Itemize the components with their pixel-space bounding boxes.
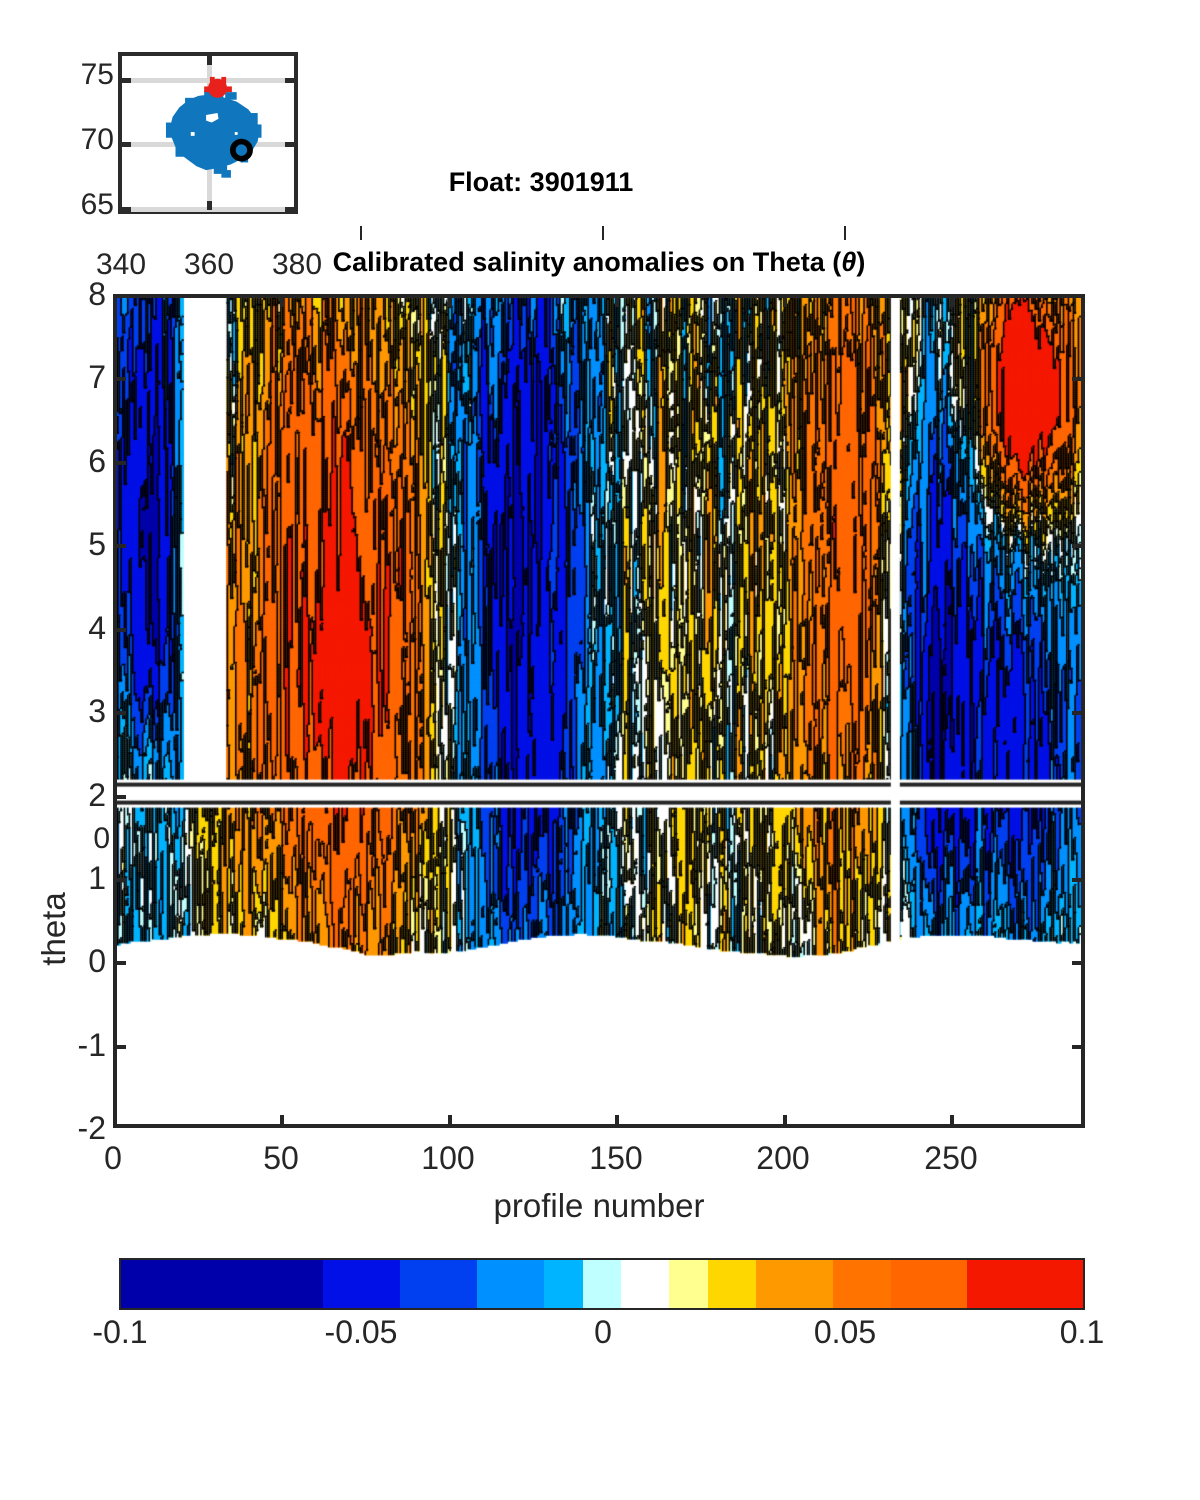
colorbar-band-5 (583, 1260, 621, 1308)
ytick-label-neg1: -1 (46, 1027, 106, 1064)
ytick-mark-neg1-right (1072, 1045, 1085, 1049)
ytick-mark-1 (113, 878, 126, 882)
xtick-mark-50 (280, 1115, 284, 1128)
colorbar-band-6 (621, 1260, 669, 1308)
xtick-mark-250 (950, 1115, 954, 1128)
ytick-mark-0-right (1072, 961, 1085, 965)
xtick-label-150: 150 (571, 1140, 661, 1177)
colorbar-tick-0 (602, 226, 604, 240)
ytick-mark-3 (113, 711, 126, 715)
ytick-mark-neg1 (113, 1045, 126, 1049)
ytick-label-4: 4 (46, 610, 106, 647)
colorbar-band-3 (477, 1260, 544, 1308)
colorbar-band-7 (669, 1260, 707, 1308)
title-theta-symbol: θ (841, 247, 856, 277)
xtick-mark-0-top (113, 294, 117, 307)
ytick-mark-0 (113, 961, 126, 965)
xtick-label-250: 250 (906, 1140, 996, 1177)
xtick-mark-100 (448, 1115, 452, 1128)
salinity-anomaly-plot[interactable] (113, 294, 1085, 1128)
colorbar-label-neg005: -0.05 (301, 1314, 421, 1351)
colorbar-band-9 (756, 1260, 833, 1308)
colorbar-band-12 (967, 1260, 1082, 1308)
colorbar-band-0 (121, 1260, 323, 1308)
page-title: Calibrated salinity anomalies on Theta (… (113, 247, 1085, 278)
title-suffix: ) (856, 247, 865, 277)
xtick-mark-200-top (783, 294, 787, 307)
ytick-label-6: 6 (46, 443, 106, 480)
colorbar-label-0: 0 (543, 1314, 663, 1351)
xtick-mark-100-top (448, 294, 452, 307)
xtick-mark-200 (783, 1115, 787, 1128)
xtick-mark-150 (615, 1115, 619, 1128)
colorbar-band-11 (891, 1260, 968, 1308)
colorbar-band-1 (323, 1260, 400, 1308)
xtick-mark-250-top (950, 294, 954, 307)
ytick-mark-5-right (1072, 544, 1085, 548)
y-axis-label: theta (35, 849, 73, 1009)
ytick-label-7: 7 (46, 359, 106, 396)
ytick-label-5: 5 (46, 526, 106, 563)
ytick-mark-7 (113, 377, 126, 381)
ytick-mark-6 (113, 461, 126, 465)
xtick-label-200: 200 (738, 1140, 828, 1177)
xtick-label-50: 50 (236, 1140, 326, 1177)
colorbar-band-4 (544, 1260, 582, 1308)
map-ylabel-75: 75 (58, 58, 114, 92)
xtick-label-0: 0 (68, 1140, 158, 1177)
colorbar-band-8 (708, 1260, 756, 1308)
ytick-label-2: 2 (46, 777, 106, 814)
salinity-anomaly-colorbar[interactable] (119, 1258, 1085, 1310)
ytick-mark-3-right (1072, 711, 1085, 715)
colorbar-band-2 (400, 1260, 477, 1308)
trajectory-cluster-icon (166, 90, 262, 177)
colorbar-tick-005 (844, 226, 846, 240)
colorbar-tick-neg005 (360, 226, 362, 240)
colorbar-label-neg01: -0.1 (60, 1314, 180, 1351)
title-prefix: Calibrated salinity anomalies on Theta ( (333, 247, 842, 277)
colorbar-label-005: 0.05 (785, 1314, 905, 1351)
ytick-mark-4 (113, 628, 126, 632)
ytick-mark-2 (113, 795, 126, 799)
xtick-label-100: 100 (403, 1140, 493, 1177)
ytick-label-8: 8 (46, 276, 106, 313)
ytick-mark-5 (113, 544, 126, 548)
map-ylabel-70: 70 (58, 123, 114, 157)
contour-field (117, 298, 1081, 1124)
xtick-mark-150-top (615, 294, 619, 307)
ytick-mark-7-right (1072, 377, 1085, 381)
colorbar-band-10 (833, 1260, 891, 1308)
xtick-mark-50-top (280, 294, 284, 307)
x-axis-label: profile number (113, 1187, 1085, 1225)
ytick-mark-1-right (1072, 878, 1085, 882)
figure-root: 75 70 65 340 360 380 Float: 3901911 Cali… (0, 0, 1200, 1500)
float-id-title: Float: 3901911 (0, 167, 1200, 198)
colorbar-label-01: 0.1 (1022, 1314, 1142, 1351)
ytick-label-3: 3 (46, 693, 106, 730)
